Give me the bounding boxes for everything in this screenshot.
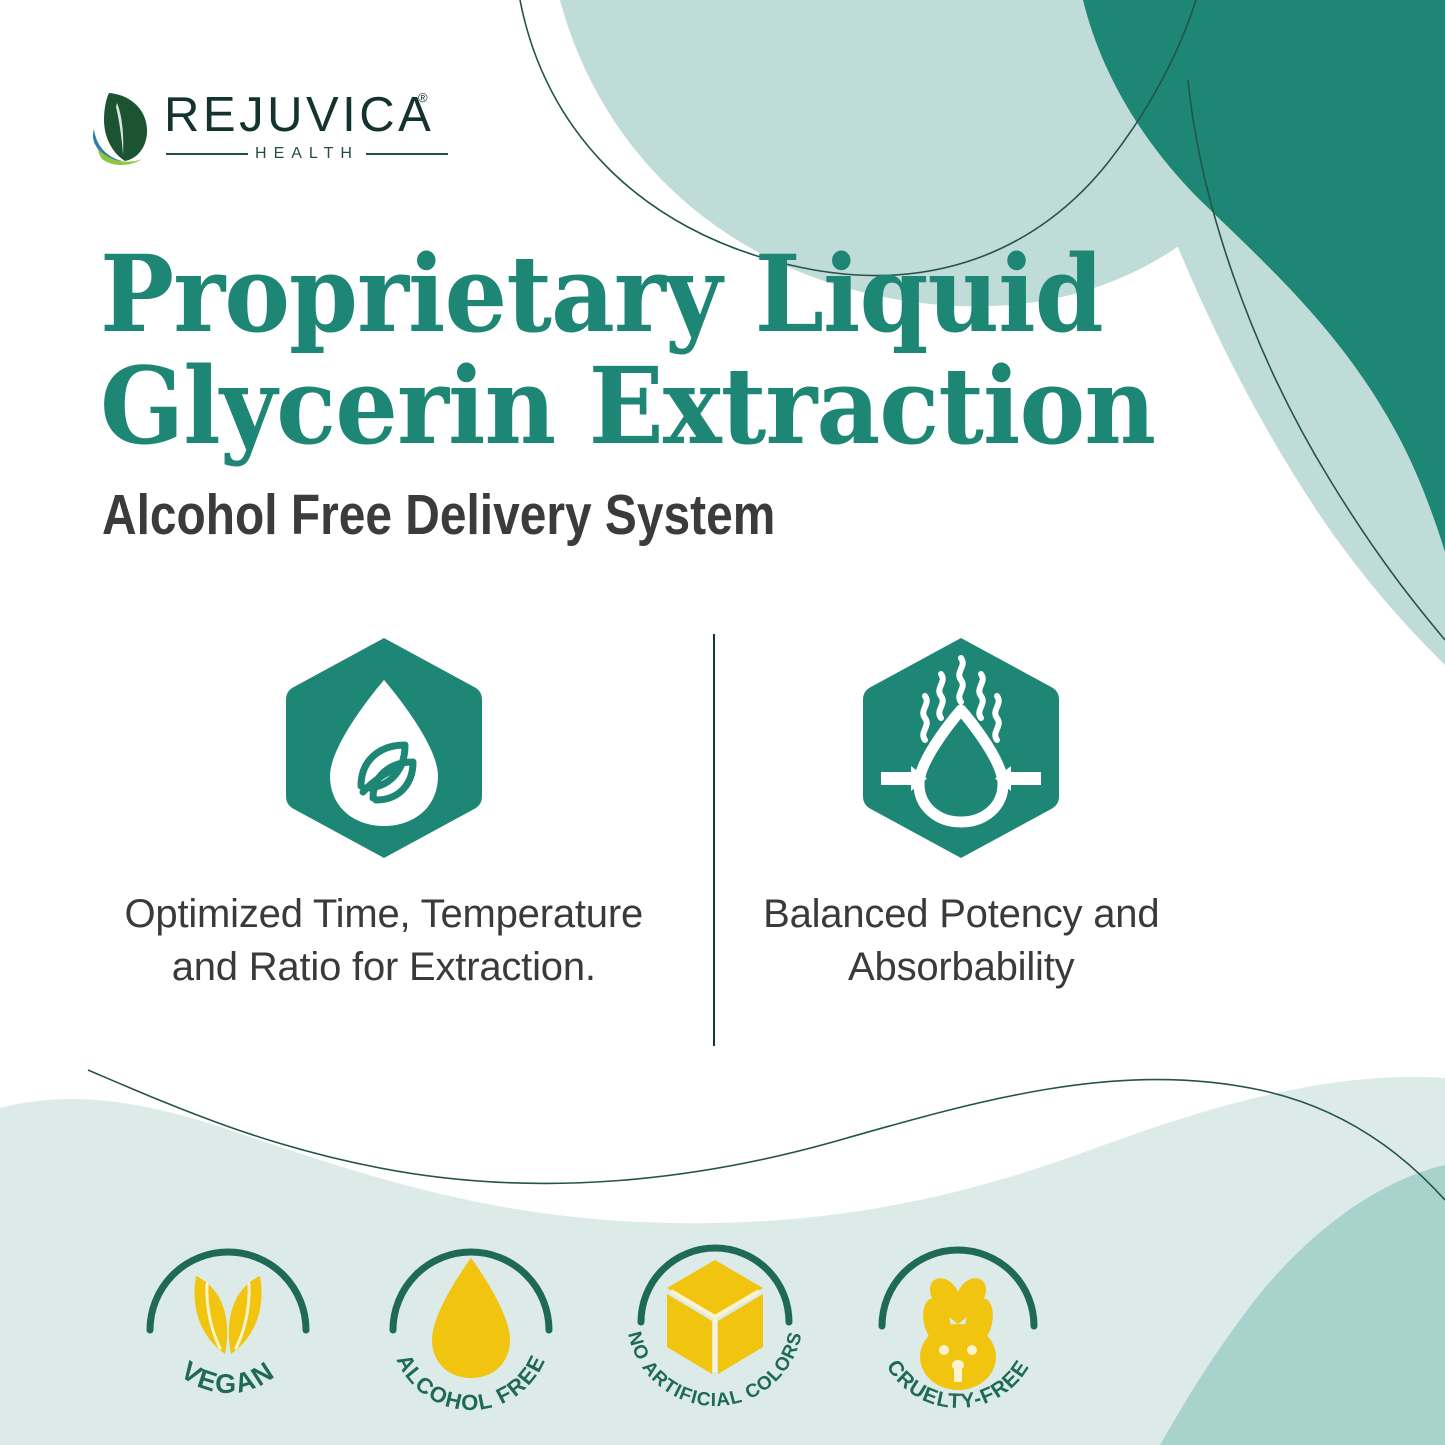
page-title-line-1: Proprietary Liquid: [100, 238, 1197, 350]
droplet-heat-arrows-hexagon-icon: [845, 632, 1077, 864]
bottom-right-sage-wave-2: [1282, 1290, 1445, 1445]
feature-item-extraction: Optimized Time, Temperature and Ratio fo…: [95, 632, 673, 994]
feature-caption: Balanced Potency and Absorbability: [673, 888, 1251, 994]
brand-logo[interactable]: REJUVICA ® HEALTH: [92, 82, 452, 174]
feature-caption: Optimized Time, Temperature and Ratio fo…: [95, 888, 673, 994]
bottom-outline-curve: [88, 1070, 1445, 1200]
svg-text:VEGAN: VEGAN: [176, 1355, 281, 1399]
leaf-swoosh-logo-icon: [92, 89, 154, 167]
badge-no-artificial-colors: NO ARTIFICIAL COLORS: [615, 1218, 815, 1413]
logo-wordmark-group: REJUVICA ® HEALTH: [164, 88, 450, 168]
infographic-poster: REJUVICA ® HEALTH Proprietary Liquid Gly…: [0, 0, 1445, 1445]
bottom-right-sage-wave: [1160, 1165, 1445, 1445]
droplet-leaf-hexagon-icon: [268, 632, 500, 864]
logo-subword-row: HEALTH: [166, 145, 448, 163]
logo-wordmark: REJUVICA: [164, 88, 434, 142]
badge-label: VEGAN: [176, 1355, 281, 1399]
top-outline-curve-2: [1188, 80, 1445, 640]
logo-subword: HEALTH: [255, 145, 359, 163]
page-title-line-2: Glycerin Extraction: [100, 350, 1197, 462]
badge-vegan: VEGAN: [128, 1218, 328, 1413]
page-subtitle: Alcohol Free Delivery System: [102, 484, 775, 546]
logo-rule-right: [366, 153, 448, 155]
two-leaves-icon: [194, 1276, 261, 1354]
certification-badge-list: VEGAN ALCOHOL FREE: [128, 1218, 1058, 1418]
badge-alcohol-free: ALCOHOL FREE: [371, 1218, 571, 1413]
cube-icon: [667, 1260, 763, 1374]
page-title: Proprietary Liquid Glycerin Extraction: [100, 238, 1197, 462]
feature-item-potency: Balanced Potency and Absorbability: [673, 632, 1251, 994]
logo-rule-left: [166, 153, 248, 155]
droplet-icon: [432, 1258, 510, 1378]
badge-cruelty-free: CRUELTY-FREE: [858, 1218, 1058, 1413]
registered-trademark-mark: ®: [418, 90, 428, 105]
feature-list: Optimized Time, Temperature and Ratio fo…: [95, 632, 1250, 1057]
